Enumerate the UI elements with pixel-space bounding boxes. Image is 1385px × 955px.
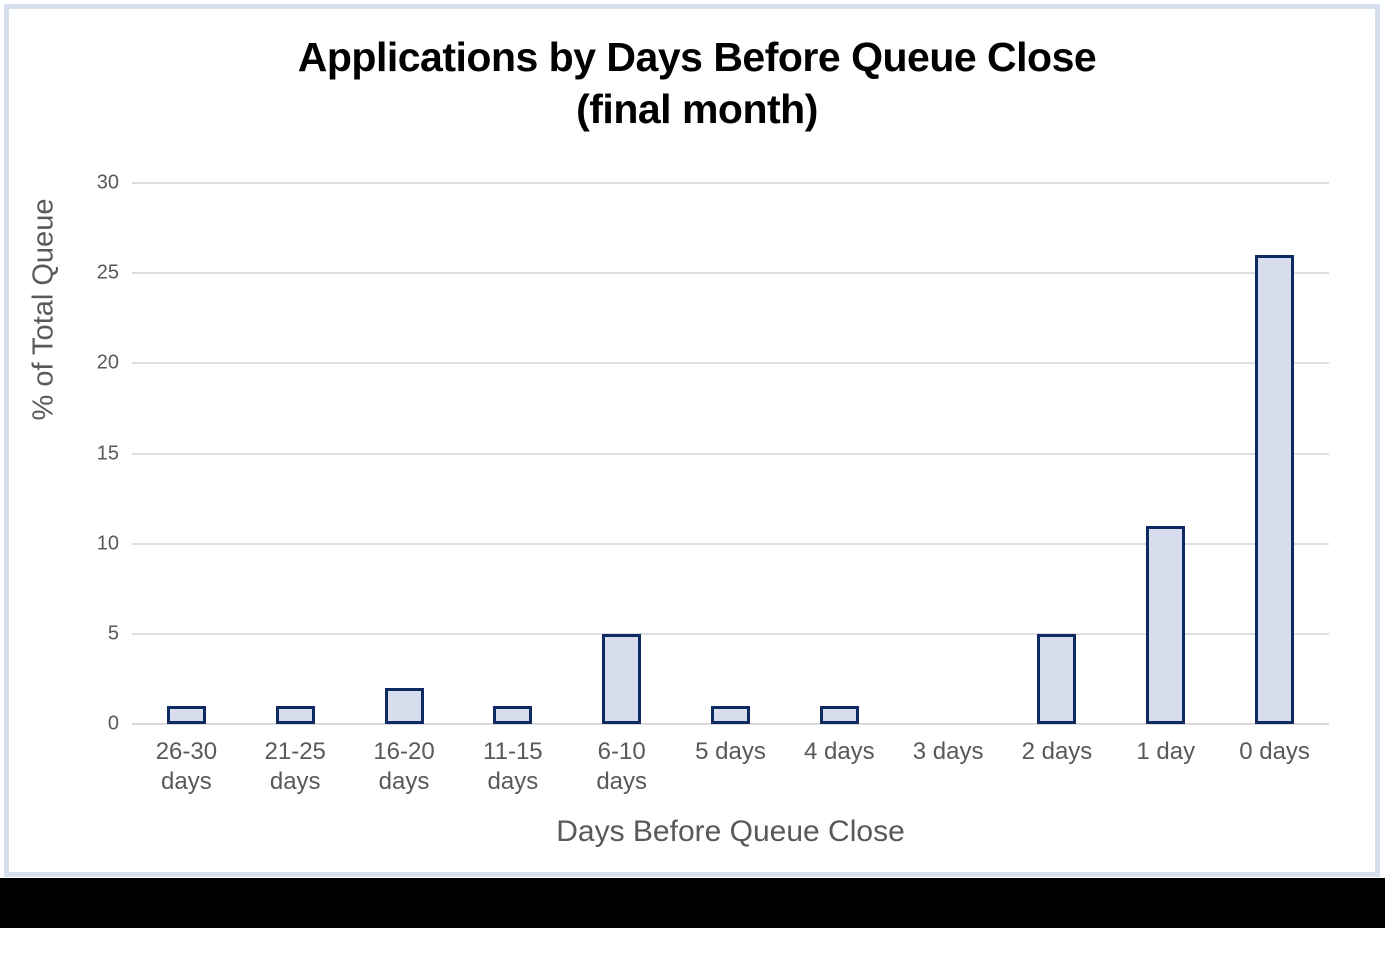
y-tick-label: 0 <box>108 713 119 736</box>
x-tick-label: 6-10 days <box>570 737 674 797</box>
x-tick-label: 2 days <box>1005 737 1109 767</box>
bar[interactable] <box>820 706 859 724</box>
slide-canvas: Applications by Days Before Queue Close … <box>0 0 1385 955</box>
y-axis-title: % of Total Queue <box>28 201 61 421</box>
x-axis-title: Days Before Queue Close <box>132 815 1329 849</box>
chart-title: Applications by Days Before Queue Close … <box>9 31 1385 135</box>
y-tick-label: 25 <box>97 262 119 285</box>
bars-group <box>132 183 1329 724</box>
chart-title-line-2: (final month) <box>9 83 1385 135</box>
bar[interactable] <box>1146 526 1185 724</box>
x-tick-label: 21-25 days <box>243 737 347 797</box>
x-tick-label: 5 days <box>679 737 783 767</box>
y-tick-label: 15 <box>97 442 119 465</box>
y-tick-label: 30 <box>97 172 119 195</box>
bar[interactable] <box>711 706 750 724</box>
chart-title-line-1: Applications by Days Before Queue Close <box>9 31 1385 83</box>
bar[interactable] <box>276 706 315 724</box>
x-axis-tick-labels: 26-30 days21-25 days16-20 days11-15 days… <box>132 737 1329 809</box>
bar[interactable] <box>385 688 424 724</box>
x-tick-label: 1 day <box>1114 737 1218 767</box>
bar[interactable] <box>602 634 641 724</box>
x-tick-label: 11-15 days <box>461 737 565 797</box>
bar[interactable] <box>167 706 206 724</box>
x-tick-label: 4 days <box>787 737 891 767</box>
chart-panel: Applications by Days Before Queue Close … <box>4 4 1380 877</box>
x-tick-label: 16-20 days <box>352 737 456 797</box>
x-tick-label: 0 days <box>1223 737 1327 767</box>
bar[interactable] <box>493 706 532 724</box>
y-tick-label: 10 <box>97 532 119 555</box>
bar[interactable] <box>1255 255 1294 724</box>
y-tick-label: 20 <box>97 352 119 375</box>
bar[interactable] <box>1037 634 1076 724</box>
x-tick-label: 3 days <box>896 737 1000 767</box>
y-tick-label: 5 <box>108 622 119 645</box>
footer-bar <box>0 878 1385 928</box>
plot-area: 051015202530 <box>132 183 1329 724</box>
x-tick-label: 26-30 days <box>134 737 238 797</box>
